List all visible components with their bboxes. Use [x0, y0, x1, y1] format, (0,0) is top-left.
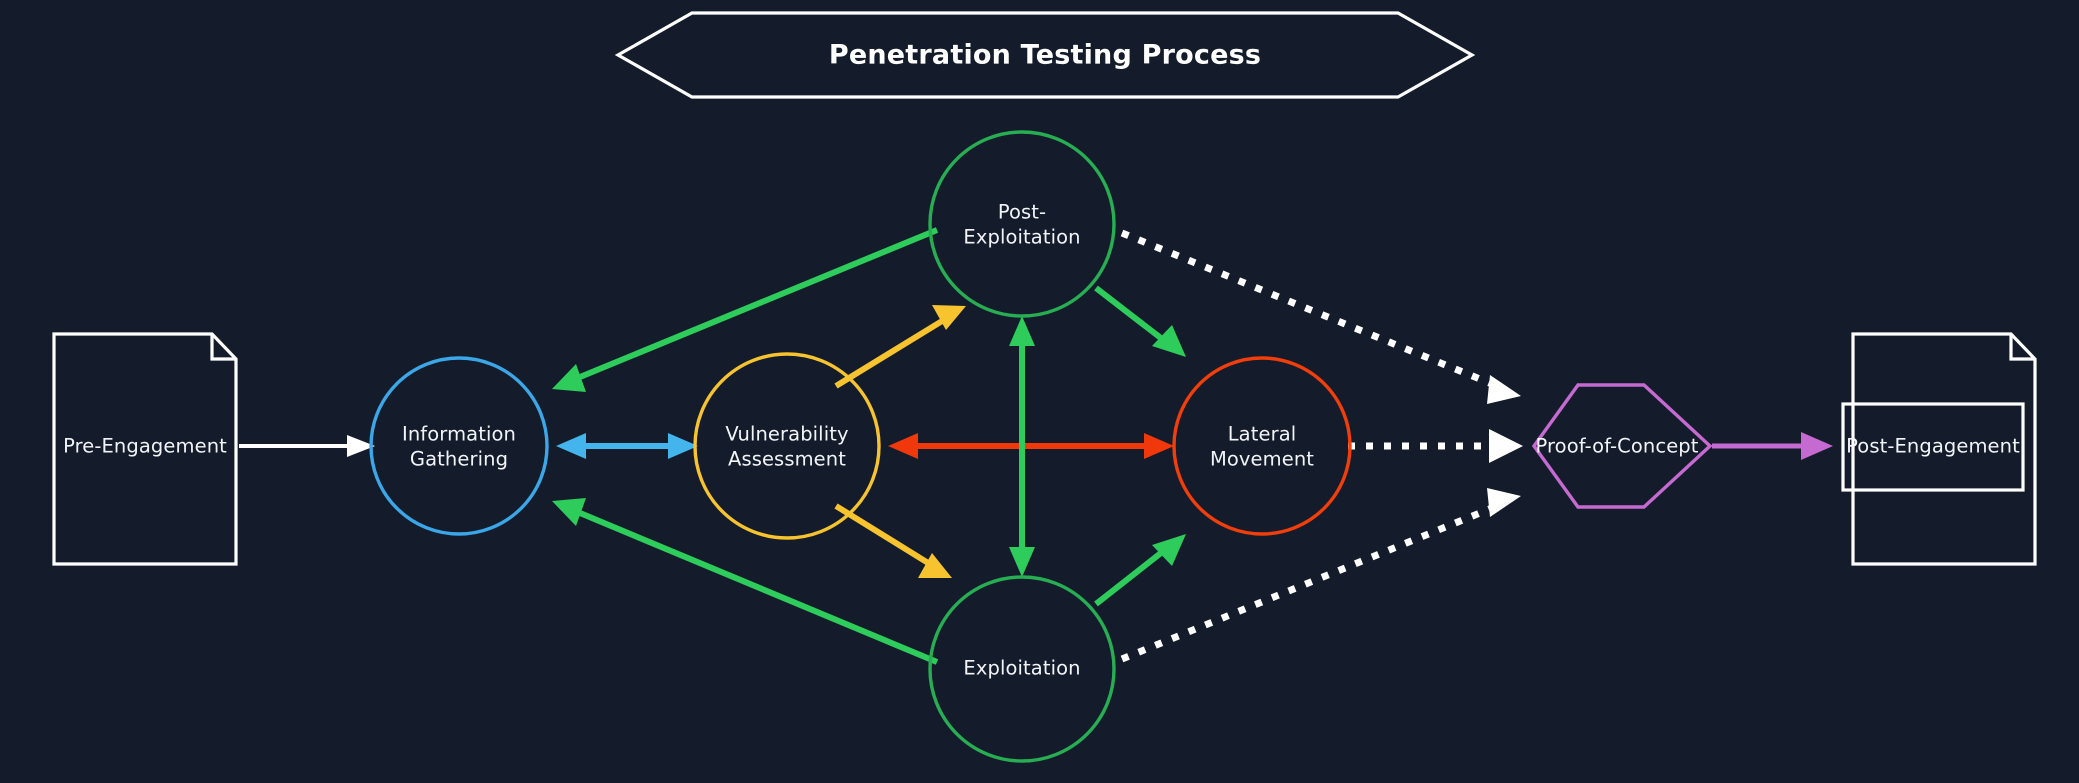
page-title: Penetration Testing Process — [829, 40, 1261, 71]
lateral-movement-label-line2: Movement — [1210, 448, 1314, 471]
post-exploitation-label-line1: Post- — [998, 201, 1046, 224]
post-engagement-label: Post-Engagement — [1846, 435, 2020, 458]
exploitation-label: Exploitation — [963, 657, 1080, 680]
information-gathering-label-line1: Information — [402, 423, 516, 446]
vulnerability-assessment-label-line1: Vulnerability — [725, 423, 848, 446]
lateral-movement-label-line1: Lateral — [1228, 423, 1297, 446]
proof-of-concept-label: Proof-of-Concept — [1535, 435, 1698, 458]
vulnerability-assessment-label-line2: Assessment — [728, 448, 846, 471]
diagram-canvas: Penetration Testing Process Pre-Engageme… — [0, 0, 2079, 783]
information-gathering-label-line2: Gathering — [410, 448, 508, 471]
penetration-testing-process-diagram: Penetration Testing Process Pre-Engageme… — [0, 0, 2079, 783]
post-exploitation-label-line2: Exploitation — [963, 226, 1080, 249]
pre-engagement-label: Pre-Engagement — [63, 435, 227, 458]
